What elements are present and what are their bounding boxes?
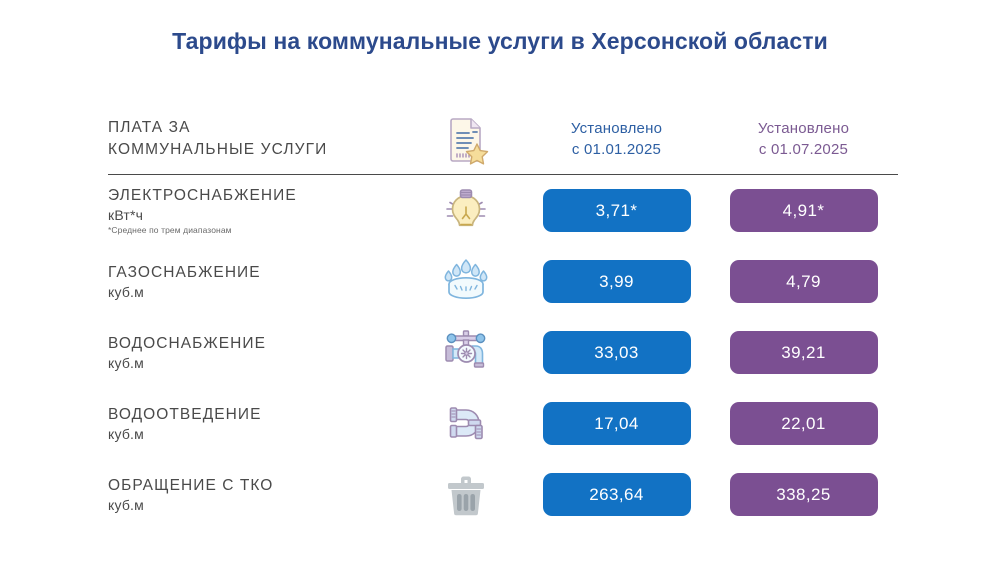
value-badge-2025-07[interactable]: 4,79 bbox=[730, 260, 878, 303]
service-name: ЭЛЕКТРОСНАБЖЕНИЕ bbox=[108, 186, 408, 205]
value-badge-2025-07[interactable]: 39,21 bbox=[730, 331, 878, 374]
row-value-cell-col2: 4,91* bbox=[710, 189, 897, 232]
col1-header-line1: Установлено bbox=[571, 120, 662, 137]
row-value-cell-col1: 17,04 bbox=[523, 402, 710, 445]
table-header-section: ПЛАТА ЗА КОММУНАЛЬНЫЕ УСЛУГИ bbox=[108, 108, 898, 175]
page-title-container: Тарифы на коммунальные услуги в Херсонск… bbox=[0, 0, 1000, 55]
value-badge-2025-01[interactable]: 3,71* bbox=[543, 189, 691, 232]
value-badge-2025-01[interactable]: 17,04 bbox=[543, 402, 691, 445]
row-icon-cell bbox=[408, 183, 523, 239]
row-icon-cell bbox=[408, 467, 523, 523]
row-value-cell-col2: 22,01 bbox=[710, 402, 897, 445]
header-col2-cell: Установлено с 01.07.2025 bbox=[710, 118, 897, 160]
row-label-cell: ОБРАЩЕНИЕ С ТКО куб.м bbox=[108, 476, 408, 513]
header-label-text: ПЛАТА ЗА КОММУНАЛЬНЫЕ УСЛУГИ bbox=[108, 117, 408, 162]
service-unit: куб.м bbox=[108, 355, 408, 371]
trash-bin-icon bbox=[438, 467, 494, 523]
pipe-icon bbox=[438, 396, 494, 452]
table-header-row: ПЛАТА ЗА КОММУНАЛЬНЫЕ УСЛУГИ bbox=[108, 108, 898, 170]
service-name: ВОДОСНАБЖЕНИЕ bbox=[108, 334, 408, 353]
col2-header-line2: с 01.07.2025 bbox=[758, 139, 849, 160]
row-label-cell: ВОДООТВЕДЕНИЕ куб.м bbox=[108, 405, 408, 442]
gas-burner-icon bbox=[438, 254, 494, 310]
service-unit: кВт*ч bbox=[108, 207, 408, 223]
row-value-cell-col1: 3,71* bbox=[523, 189, 710, 232]
row-label-cell: ГАЗОСНАБЖЕНИЕ куб.м bbox=[108, 263, 408, 300]
row-value-cell-col1: 263,64 bbox=[523, 473, 710, 516]
service-name: ВОДООТВЕДЕНИЕ bbox=[108, 405, 408, 424]
document-star-icon bbox=[438, 111, 494, 167]
row-value-cell-col2: 39,21 bbox=[710, 331, 897, 374]
header-label-cell: ПЛАТА ЗА КОММУНАЛЬНЫЕ УСЛУГИ bbox=[108, 117, 408, 162]
value-badge-2025-07[interactable]: 22,01 bbox=[730, 402, 878, 445]
value-badge-2025-01[interactable]: 3,99 bbox=[543, 260, 691, 303]
row-label-cell: ВОДОСНАБЖЕНИЕ куб.м bbox=[108, 334, 408, 371]
col2-header-text: Установлено с 01.07.2025 bbox=[758, 118, 849, 160]
value-badge-2025-01[interactable]: 263,64 bbox=[543, 473, 691, 516]
value-badge-2025-01[interactable]: 33,03 bbox=[543, 331, 691, 374]
col1-header-line2: с 01.01.2025 bbox=[571, 139, 662, 160]
row-value-cell-col2: 338,25 bbox=[710, 473, 897, 516]
value-badge-2025-07[interactable]: 4,91* bbox=[730, 189, 878, 232]
service-unit: куб.м bbox=[108, 284, 408, 300]
row-icon-cell bbox=[408, 254, 523, 310]
faucet-icon bbox=[438, 325, 494, 381]
row-value-cell-col1: 3,99 bbox=[523, 260, 710, 303]
row-label-cell: ЭЛЕКТРОСНАБЖЕНИЕ кВт*ч *Среднее по трем … bbox=[108, 186, 408, 235]
header-icon-cell bbox=[408, 111, 523, 167]
col2-header-line1: Установлено bbox=[758, 120, 849, 137]
header-label-line2: КОММУНАЛЬНЫЕ УСЛУГИ bbox=[108, 141, 327, 158]
service-unit: куб.м bbox=[108, 497, 408, 513]
table-row: ГАЗОСНАБЖЕНИЕ куб.м bbox=[108, 246, 898, 317]
row-value-cell-col2: 4,79 bbox=[710, 260, 897, 303]
col1-header-text: Установлено с 01.01.2025 bbox=[571, 118, 662, 160]
service-unit: куб.м bbox=[108, 426, 408, 442]
table-row: ОБРАЩЕНИЕ С ТКО куб.м 263,64 bbox=[108, 459, 898, 530]
table-row: ВОДООТВЕДЕНИЕ куб.м bbox=[108, 388, 898, 459]
header-label-line1: ПЛАТА ЗА bbox=[108, 119, 191, 136]
header-col1-cell: Установлено с 01.01.2025 bbox=[523, 118, 710, 160]
table-row: ВОДОСНАБЖЕНИЕ куб.м bbox=[108, 317, 898, 388]
service-note: *Среднее по трем диапазонам bbox=[108, 225, 408, 235]
page-title: Тарифы на коммунальные услуги в Херсонск… bbox=[172, 28, 828, 55]
value-badge-2025-07[interactable]: 338,25 bbox=[730, 473, 878, 516]
lightbulb-icon bbox=[438, 183, 494, 239]
service-name: ОБРАЩЕНИЕ С ТКО bbox=[108, 476, 408, 495]
row-icon-cell bbox=[408, 396, 523, 452]
row-value-cell-col1: 33,03 bbox=[523, 331, 710, 374]
tariff-table: ПЛАТА ЗА КОММУНАЛЬНЫЕ УСЛУГИ bbox=[108, 108, 898, 530]
row-icon-cell bbox=[408, 325, 523, 381]
service-name: ГАЗОСНАБЖЕНИЕ bbox=[108, 263, 408, 282]
table-row: ЭЛЕКТРОСНАБЖЕНИЕ кВт*ч *Среднее по трем … bbox=[108, 175, 898, 246]
